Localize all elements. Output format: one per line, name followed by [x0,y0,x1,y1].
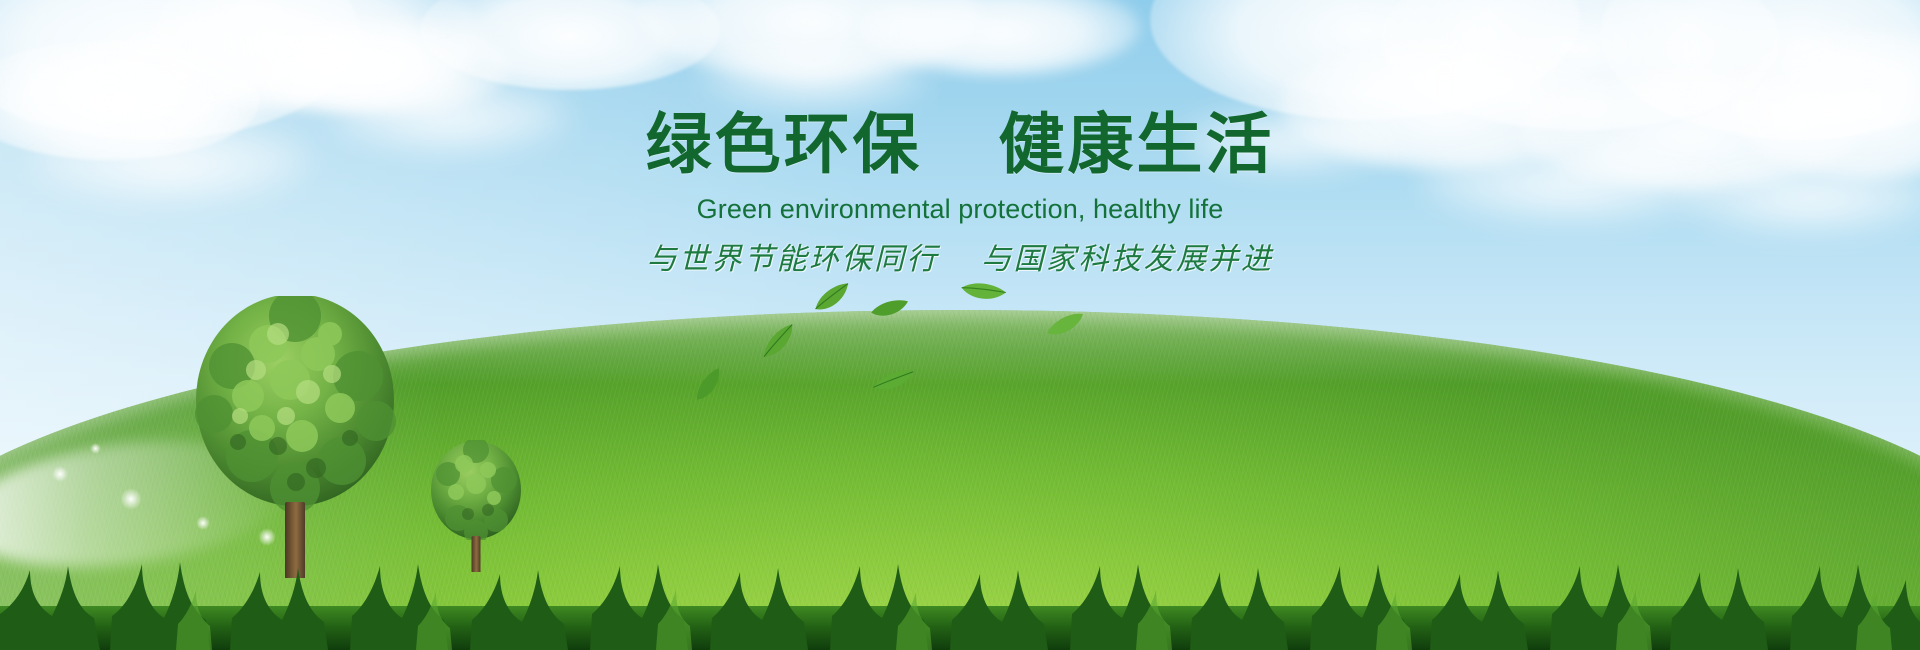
headline: 绿色环保 健康生活 [0,108,1920,182]
tagline-part1: 与世界节能环保同行 [647,243,940,276]
tree-canopy [428,440,524,540]
tree-canopy [190,296,400,511]
tagline: 与世界节能环保同行 与国家科技发展并进 [0,234,1920,278]
headline-part2: 健康生活 [998,107,1274,181]
tagline-part2: 与国家科技发展并进 [981,243,1274,276]
eco-banner: 绿色环保 健康生活 Green environmental protection… [0,0,1920,650]
grass-silhouette-strip [0,554,1920,650]
banner-text-block: 绿色环保 健康生活 Green environmental protection… [0,108,1920,278]
subtitle: Green environmental protection, healthy … [0,194,1920,225]
tree-large [190,296,400,578]
headline-part1: 绿色环保 [646,107,922,181]
tree-small [428,440,524,572]
